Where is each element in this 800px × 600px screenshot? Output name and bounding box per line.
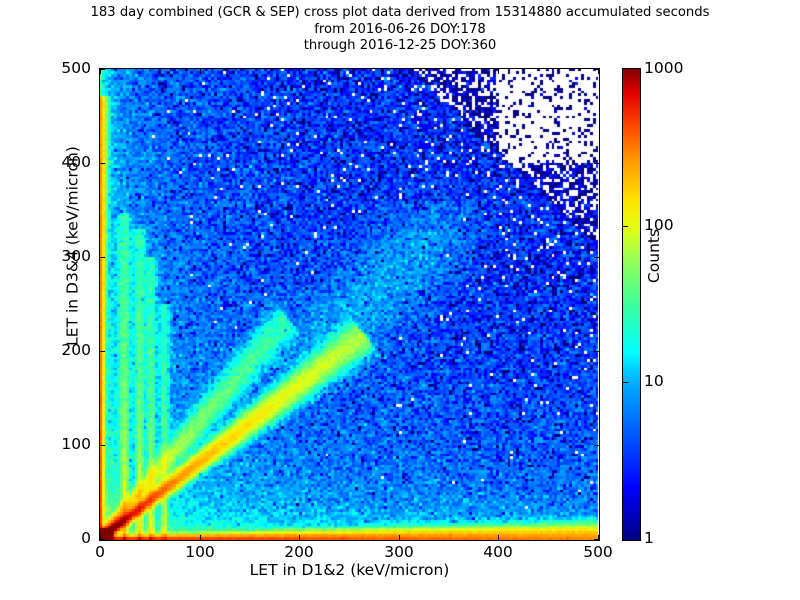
y-tick: [594, 445, 599, 446]
x-tick-label: 100: [170, 543, 230, 561]
plot-area: [99, 68, 600, 541]
y-tick-label: 100: [31, 435, 91, 453]
y-tick: [594, 351, 599, 352]
x-tick: [299, 535, 300, 540]
y-tick-label: 500: [31, 59, 91, 77]
heatmap-canvas: [100, 69, 599, 540]
y-tick: [100, 257, 105, 258]
y-tick: [594, 257, 599, 258]
figure-title: 183 day combined (GCR & SEP) cross plot …: [0, 5, 800, 55]
colorbar-gradient: [623, 69, 640, 540]
y-tick-label: 0: [31, 529, 91, 547]
x-tick-label: 400: [468, 543, 528, 561]
x-tick-label: 200: [269, 543, 329, 561]
y-tick: [100, 539, 105, 540]
x-tick-label: 300: [369, 543, 429, 561]
y-tick-label: 200: [31, 341, 91, 359]
y-tick: [100, 445, 105, 446]
colorbar-tick: [623, 382, 628, 383]
y-tick: [594, 539, 599, 540]
y-axis-label: LET in D3&4 (keV/micron): [64, 10, 82, 483]
colorbar: [622, 68, 641, 541]
y-tick-label: 400: [31, 153, 91, 171]
colorbar-tick-label: 10: [644, 372, 664, 390]
y-tick: [594, 163, 599, 164]
x-tick: [498, 69, 499, 74]
x-tick: [200, 535, 201, 540]
x-tick: [399, 69, 400, 74]
colorbar-tick-label: 1: [644, 529, 654, 547]
title-line-2: from 2016-06-26 DOY:178: [0, 22, 800, 39]
y-tick: [100, 163, 105, 164]
colorbar-tick-label: 1000: [644, 59, 683, 77]
y-tick-label: 300: [31, 247, 91, 265]
x-tick: [200, 69, 201, 74]
x-tick: [498, 535, 499, 540]
y-tick: [100, 69, 105, 70]
x-axis-label: LET in D1&2 (keV/micron): [99, 561, 600, 579]
y-tick: [100, 351, 105, 352]
colorbar-label: Counts: [645, 141, 663, 371]
x-tick: [399, 535, 400, 540]
x-tick-label: 500: [568, 543, 628, 561]
title-line-3: through 2016-12-25 DOY:360: [0, 38, 800, 55]
title-line-1: 183 day combined (GCR & SEP) cross plot …: [0, 5, 800, 22]
colorbar-tick: [623, 226, 628, 227]
figure: 183 day combined (GCR & SEP) cross plot …: [0, 0, 800, 600]
x-tick: [299, 69, 300, 74]
y-tick: [594, 69, 599, 70]
